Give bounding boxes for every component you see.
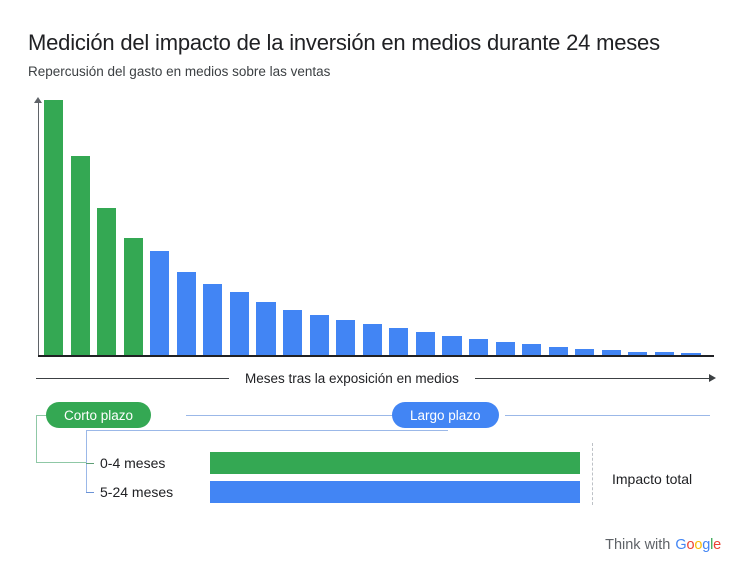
- bar-chart: [0, 0, 745, 380]
- pill-largo-plazo[interactable]: Largo plazo: [392, 402, 499, 428]
- chart-bar: [97, 208, 116, 356]
- google-letter: G: [675, 537, 686, 553]
- chart-bar: [310, 315, 329, 356]
- impact-total-label: Impacto total: [612, 471, 692, 487]
- legend-bar-0-4-meses: [210, 452, 580, 474]
- chart-plot-bars: [44, 100, 708, 356]
- chart-bar: [203, 284, 222, 356]
- pill-largo-plazo-label: Largo plazo: [410, 408, 481, 423]
- google-wordmark: Google: [675, 537, 721, 553]
- x-axis-line: [38, 355, 714, 357]
- chart-bar: [442, 336, 461, 356]
- pill-connector-middle: [186, 415, 398, 416]
- chart-bar: [416, 332, 435, 356]
- legend-label-0-4-meses: 0-4 meses: [100, 455, 165, 471]
- y-axis-line: [38, 100, 39, 356]
- chart-bar: [363, 324, 382, 356]
- y-axis-arrow-icon: [34, 97, 42, 103]
- chart-bar: [177, 272, 196, 356]
- tick-row-1: [86, 492, 94, 493]
- pill-connector-right: [505, 415, 710, 416]
- chart-bar: [256, 302, 275, 356]
- axis-rule-right: [475, 378, 710, 379]
- chart-bar: [389, 328, 408, 356]
- chart-bar: [230, 292, 249, 356]
- chart-bar: [469, 339, 488, 356]
- bracket-corto-plazo: [36, 415, 86, 463]
- chart-bar: [283, 310, 302, 356]
- chart-bar: [71, 156, 90, 356]
- chart-bar: [496, 342, 515, 356]
- think-with-google-logo: Think with Google: [605, 537, 721, 553]
- x-axis-caption-row: Meses tras la exposición en medios: [36, 367, 716, 389]
- legend-bar-5-24-meses: [210, 481, 580, 503]
- impact-total-divider: [592, 443, 593, 505]
- google-letter: e: [713, 537, 721, 553]
- brand-think-with-text: Think with: [605, 537, 670, 553]
- tick-row-0: [86, 463, 94, 464]
- chart-bar: [336, 320, 355, 356]
- x-axis-caption-label: Meses tras la exposición en medios: [229, 371, 475, 386]
- legend-label-5-24-meses: 5-24 meses: [100, 484, 173, 500]
- chart-bar: [124, 238, 143, 356]
- google-letter: g: [702, 537, 710, 553]
- chart-bar: [150, 251, 169, 356]
- axis-arrow-right-icon: [709, 374, 716, 382]
- axis-rule-left: [36, 378, 229, 379]
- chart-bar: [44, 100, 63, 356]
